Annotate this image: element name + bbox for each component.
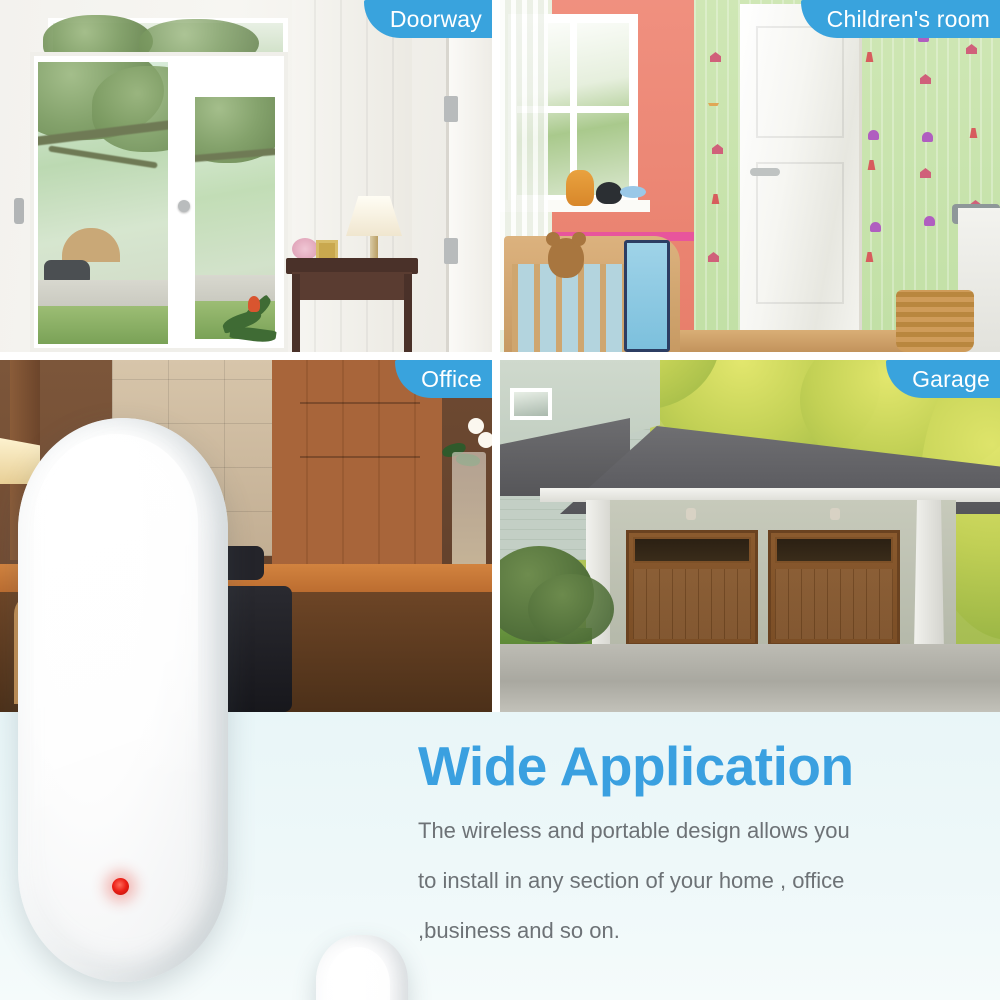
glass-vase	[452, 452, 486, 570]
blue-blanket	[624, 240, 670, 352]
concrete-driveway	[500, 644, 1000, 712]
door-hinge	[444, 96, 458, 122]
penguin-toy	[596, 182, 622, 204]
photo-childrens-room: Children's room	[500, 0, 1000, 352]
garage-door-right	[768, 530, 900, 646]
badge-doorway: Doorway	[364, 0, 492, 38]
body-line-2: to install in any section of your home ,…	[418, 870, 844, 892]
exterior-lamp	[830, 508, 840, 520]
status-led-icon	[112, 878, 129, 895]
garage-scene: Garage	[500, 360, 1000, 712]
exterior-lamp	[686, 508, 696, 520]
wicker-basket	[896, 290, 974, 352]
door-hinge	[444, 238, 458, 264]
tiger-plush-toy	[566, 170, 594, 206]
page-title: Wide Application	[418, 738, 978, 796]
door-lock	[14, 198, 24, 224]
parked-car	[44, 260, 90, 282]
photo-doorway: Doorway	[0, 0, 492, 352]
photo-garage: Garage	[500, 360, 1000, 712]
doorway-second-door	[446, 0, 492, 352]
marketing-copy: Wide Application	[418, 738, 978, 796]
teddy-bear	[548, 238, 584, 278]
console-table-legs	[292, 274, 412, 352]
door-knob	[178, 200, 190, 212]
garage-door-left	[626, 530, 758, 646]
foreground-plant	[222, 292, 292, 352]
body-line-1: The wireless and portable design allows …	[418, 820, 850, 842]
sensor-body	[18, 418, 228, 982]
door-handle[interactable]	[750, 168, 780, 176]
flower-vase	[292, 238, 318, 260]
shrub	[528, 574, 614, 644]
room-door	[740, 4, 862, 330]
sensor-magnet	[316, 935, 408, 1000]
childrens-room-scene: Children's room	[500, 0, 1000, 352]
toy-plate	[620, 186, 646, 198]
porch-column-right	[914, 500, 944, 650]
badge-childrens-room: Children's room	[801, 0, 1000, 38]
body-line-3: ,business and so on.	[418, 920, 620, 942]
badge-garage: Garage	[886, 360, 1000, 398]
gazebo	[62, 228, 120, 262]
lawn	[38, 306, 168, 344]
upper-window	[510, 388, 552, 420]
doorway-scene: Doorway	[0, 0, 492, 352]
doorway-glass-left	[38, 62, 168, 344]
product-marketing-image: Doorway	[0, 0, 1000, 1000]
product-device	[0, 400, 420, 1000]
